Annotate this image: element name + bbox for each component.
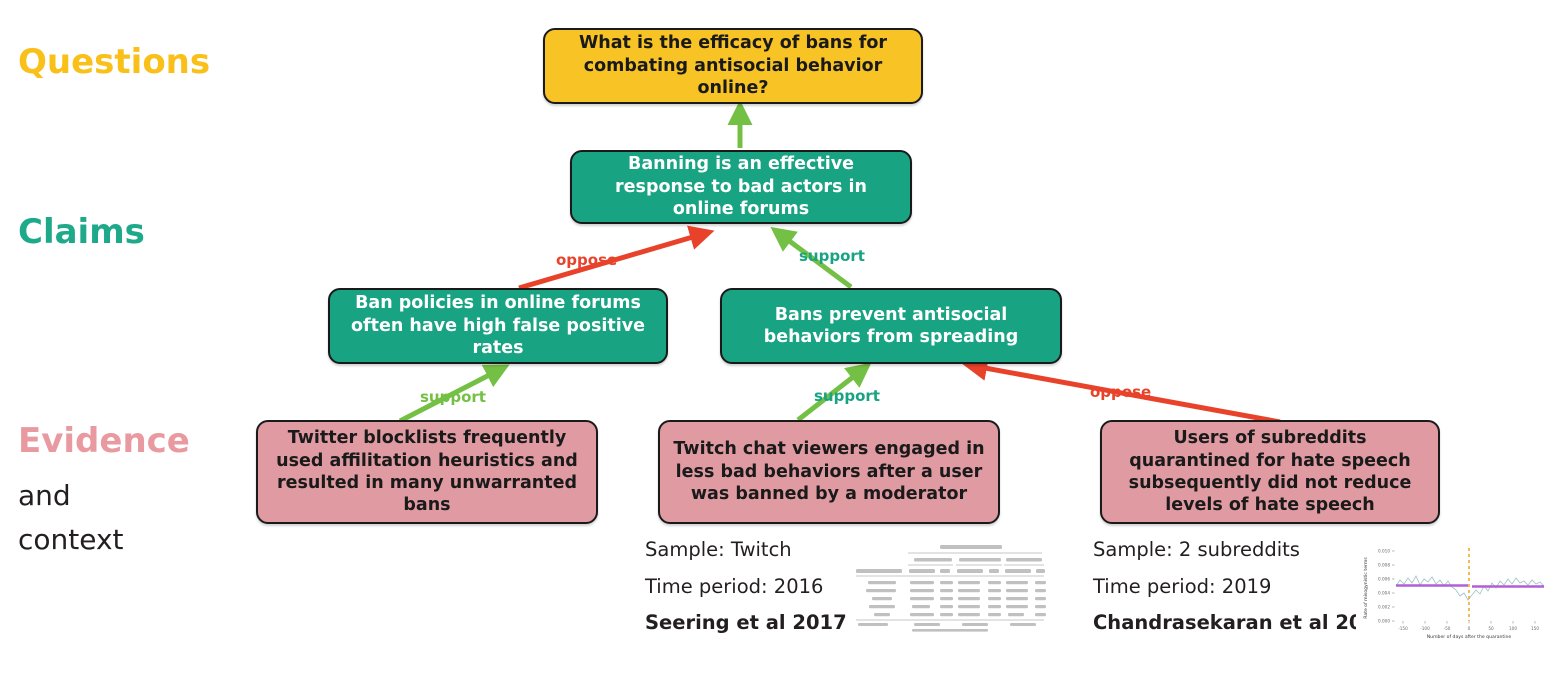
evidence-node-twitter-blocklists[interactable]: Twitter blocklists frequently used affil… bbox=[256, 420, 598, 524]
claim-node-root[interactable]: Banning is an effective response to bad … bbox=[570, 150, 912, 224]
context-time-period-twitch: Time period: 2016 bbox=[645, 577, 847, 597]
edge-label-c2-to-c0: support bbox=[799, 247, 865, 265]
plot-ytick-0004: 0.004 bbox=[1378, 591, 1390, 596]
row-label-claims: Claims bbox=[18, 215, 145, 249]
plot-xtick-150: 150 bbox=[1531, 626, 1539, 631]
plot-xtick-0: 0 bbox=[1468, 626, 1471, 631]
row-label-evidence: Evidence bbox=[18, 424, 190, 458]
context-citation-twitch: Seering et al 2017 bbox=[645, 613, 847, 633]
plot-ytick-0002: 0.002 bbox=[1378, 605, 1390, 610]
edge-label-e1-to-c1: support bbox=[420, 388, 486, 406]
claim-node-false-positives[interactable]: Ban policies in online forums often have… bbox=[328, 288, 668, 364]
row-label-questions: Questions bbox=[18, 45, 210, 79]
row-label-evidence-context: context bbox=[18, 526, 124, 554]
plot-xtick-100: 100 bbox=[1509, 626, 1517, 631]
plot-series-observed bbox=[1396, 576, 1544, 600]
regression-table-thumbnail[interactable] bbox=[852, 538, 1048, 634]
plot-ylabel: Rate of misogynistic terms bbox=[1363, 557, 1369, 619]
edge-label-c1-to-c0: oppose bbox=[556, 251, 617, 269]
plot-xtick-neg100: -100 bbox=[1420, 626, 1430, 631]
context-citation-subreddits: Chandrasekaran et al 2022 bbox=[1093, 613, 1390, 633]
plot-xtick-50: 50 bbox=[1488, 626, 1494, 631]
plot-ytick-0010: 0.010 bbox=[1378, 549, 1390, 554]
plot-xtick-neg50: -50 bbox=[1444, 626, 1451, 631]
context-time-period-subreddits: Time period: 2019 bbox=[1093, 577, 1390, 597]
quarantine-plot-thumbnail[interactable]: 0.010 0.008 0.006 0.004 0.002 0.000 Rate… bbox=[1356, 538, 1552, 642]
plot-xtick-neg150: -150 bbox=[1398, 626, 1408, 631]
row-label-evidence-and: and bbox=[18, 482, 71, 510]
evidence-node-subreddit-quarantine[interactable]: Users of subreddits quarantined for hate… bbox=[1100, 420, 1440, 524]
evidence-node-twitch-chat[interactable]: Twitch chat viewers engaged in less bad … bbox=[658, 420, 1000, 524]
plot-ytick-0006: 0.006 bbox=[1378, 577, 1390, 582]
diagram-canvas: Questions Claims Evidence and context op… bbox=[0, 0, 1555, 684]
edge-label-e3-to-c2: oppose bbox=[1090, 383, 1151, 401]
plot-ytick-0008: 0.008 bbox=[1378, 563, 1390, 568]
claim-node-prevent-spreading[interactable]: Bans prevent antisocial behaviors from s… bbox=[720, 288, 1062, 364]
plot-ytick-0000: 0.000 bbox=[1378, 619, 1390, 624]
edge-label-e2-to-c2: support bbox=[814, 387, 880, 405]
question-node[interactable]: What is the efficacy of bans for combati… bbox=[543, 28, 923, 104]
context-sample-subreddits: Sample: 2 subreddits bbox=[1093, 540, 1390, 560]
context-sample-twitch: Sample: Twitch bbox=[645, 540, 847, 560]
plot-xlabel: Number of days after the quarantine bbox=[1427, 634, 1512, 640]
context-block-twitch: Sample: Twitch Time period: 2016 Seering… bbox=[645, 540, 847, 633]
context-block-subreddits: Sample: 2 subreddits Time period: 2019 C… bbox=[1093, 540, 1390, 633]
